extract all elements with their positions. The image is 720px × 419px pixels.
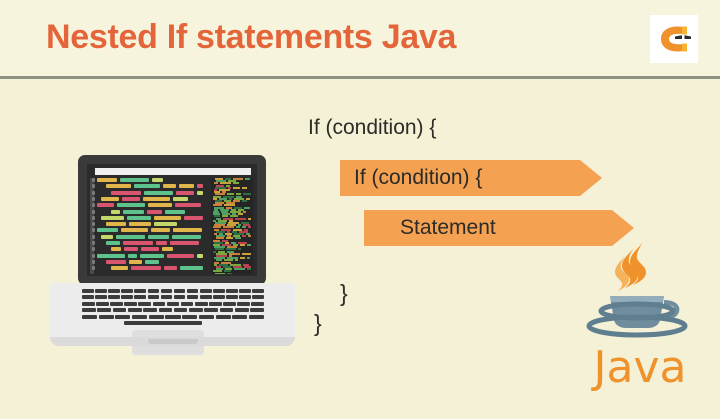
code-token — [145, 260, 159, 264]
code-gutter-tick — [92, 235, 95, 239]
keyboard-key — [82, 302, 95, 306]
code-token — [101, 197, 119, 201]
laptop-keyboard — [82, 289, 264, 325]
code-token — [176, 191, 194, 195]
keyboard-spacebar — [124, 321, 202, 325]
code-token — [173, 228, 202, 232]
keyboard-key — [204, 308, 218, 312]
keyboard-key — [134, 295, 146, 299]
keyboard-key — [143, 308, 157, 312]
code-token — [156, 241, 167, 245]
keyboard-key — [134, 289, 146, 293]
code-token — [116, 235, 145, 239]
keyboard-key — [226, 295, 238, 299]
code-token — [134, 184, 160, 188]
keyboard-key — [128, 308, 142, 312]
laptop-base — [50, 283, 295, 345]
code-token — [172, 235, 201, 239]
code-token — [123, 210, 144, 214]
keyboard-key — [174, 308, 188, 312]
laptop-front-notch — [148, 339, 198, 344]
minimap-token — [243, 193, 251, 195]
code-token — [97, 254, 125, 258]
code-gutter-tick — [92, 228, 95, 232]
minimap-token — [235, 218, 246, 220]
keyboard-key — [220, 308, 234, 312]
minimap-token — [238, 248, 241, 250]
code-token — [144, 191, 173, 195]
editor-tab-bar — [95, 168, 251, 175]
keyboard-key — [82, 289, 94, 293]
code-token — [101, 235, 113, 239]
code-token — [101, 216, 124, 220]
code-line-outer-brace: } — [314, 310, 322, 337]
code-token — [148, 203, 172, 207]
code-token — [173, 197, 188, 201]
minimap-token — [242, 253, 251, 255]
code-token — [163, 184, 176, 188]
keyboard-key — [250, 308, 264, 312]
code-gutter-tick — [92, 178, 95, 182]
minimap-token — [248, 226, 251, 228]
code-token — [127, 216, 151, 220]
keyboard-key — [138, 302, 151, 306]
minimap-token — [242, 235, 246, 237]
keyboard-key — [161, 289, 173, 293]
code-token — [179, 184, 194, 188]
code-token — [97, 178, 117, 182]
keyboard-key — [226, 289, 238, 293]
keyboard-key — [165, 315, 180, 319]
keyboard-key — [181, 302, 194, 306]
poster-canvas: Nested If statements Java — [0, 0, 720, 419]
minimap-token — [242, 200, 247, 202]
editor-code-area — [97, 178, 205, 274]
code-token — [122, 197, 140, 201]
keyboard-key — [239, 295, 251, 299]
code-gutter-tick — [92, 241, 95, 245]
keyboard-key — [174, 289, 186, 293]
keyboard-key — [209, 302, 222, 306]
arrow-inner-if: If (condition) { — [340, 160, 635, 196]
code-token — [124, 247, 138, 251]
keyboard-key — [189, 308, 203, 312]
code-gutter-tick — [92, 203, 95, 207]
keyboard-key — [82, 308, 96, 312]
code-gutter-tick — [92, 184, 95, 188]
code-token — [151, 228, 170, 232]
laptop-illustration — [50, 155, 295, 360]
minimap-token — [235, 259, 238, 261]
code-token — [197, 191, 203, 195]
laptop-screen — [87, 164, 257, 276]
editor-minimap — [211, 178, 253, 274]
keyboard-key — [187, 289, 199, 293]
keyboard-key — [96, 302, 109, 306]
minimap-token — [247, 244, 251, 246]
code-token — [167, 254, 194, 258]
keyboard-key — [195, 302, 208, 306]
code-line-outer-if: If (condition) { — [308, 116, 436, 140]
keyboard-key — [108, 289, 120, 293]
code-token — [117, 203, 145, 207]
keyboard-key — [148, 295, 160, 299]
keyboard-key — [82, 295, 94, 299]
code-token — [111, 266, 128, 270]
code-gutter-tick — [92, 210, 95, 214]
keyboard-key — [148, 289, 160, 293]
code-line-inner-brace: } — [340, 280, 348, 307]
code-token — [140, 254, 164, 258]
keyboard-key — [235, 308, 249, 312]
code-token — [154, 222, 177, 226]
minimap-token — [234, 268, 245, 270]
code-token — [131, 266, 161, 270]
keyboard-key — [200, 289, 212, 293]
laptop-lid — [78, 155, 266, 285]
code-gutter-tick — [92, 216, 95, 220]
code-gutter-tick — [92, 266, 95, 270]
code-token — [154, 216, 181, 220]
keyboard-key — [182, 315, 197, 319]
keyboard-key — [249, 315, 264, 319]
page-title: Nested If statements Java — [46, 18, 456, 57]
code-token — [148, 235, 169, 239]
minimap-token — [227, 273, 232, 274]
minimap-token — [233, 187, 240, 189]
minimap-token — [235, 237, 241, 239]
keyboard-key — [252, 289, 264, 293]
code-token — [97, 203, 114, 207]
code-token — [197, 184, 203, 188]
code-token — [129, 222, 151, 226]
keyboard-key — [113, 308, 127, 312]
keyboard-key — [223, 302, 236, 306]
keyboard-key — [124, 302, 137, 306]
coding-ninjas-c-logo-icon[interactable] — [650, 15, 698, 63]
code-gutter-tick — [92, 260, 95, 264]
keyboard-key — [82, 315, 97, 319]
keyboard-key — [95, 289, 107, 293]
code-token — [111, 191, 141, 195]
code-token — [123, 241, 153, 245]
java-coffee-cup-icon — [580, 238, 700, 350]
keyboard-key — [213, 295, 225, 299]
code-token — [120, 178, 149, 182]
keyboard-key — [232, 315, 247, 319]
code-token — [152, 178, 163, 182]
c-ninja-svg — [650, 15, 698, 63]
keyboard-key — [200, 295, 212, 299]
arrow-head — [580, 160, 602, 196]
minimap-token — [243, 211, 246, 213]
code-token — [129, 260, 142, 264]
keyboard-key — [251, 302, 264, 306]
code-token — [128, 254, 137, 258]
minimap-token — [240, 257, 245, 259]
code-token — [147, 210, 162, 214]
keyboard-key — [132, 315, 147, 319]
code-token — [180, 266, 203, 270]
keyboard-key — [167, 302, 180, 306]
keyboard-key — [110, 302, 123, 306]
keyboard-key — [187, 295, 199, 299]
keyboard-key — [108, 295, 120, 299]
code-token — [184, 216, 203, 220]
keyboard-key — [239, 289, 251, 293]
code-token — [121, 228, 148, 232]
keyboard-key — [237, 302, 250, 306]
keyboard-key — [216, 315, 231, 319]
code-token — [106, 260, 126, 264]
header-bar: Nested If statements Java — [0, 0, 720, 78]
keyboard-key — [115, 315, 130, 319]
code-token — [106, 184, 131, 188]
keyboard-key — [97, 308, 111, 312]
keyboard-key — [161, 295, 173, 299]
code-token — [175, 203, 201, 207]
minimap-token — [247, 257, 250, 259]
arrow-label-inner-if: If (condition) { — [354, 160, 482, 196]
code-token — [106, 241, 120, 245]
keyboard-key — [99, 315, 114, 319]
minimap-token — [215, 273, 225, 274]
code-token — [197, 254, 203, 258]
code-token — [97, 228, 118, 232]
keyboard-key — [121, 295, 133, 299]
code-gutter-tick — [92, 191, 95, 195]
java-logo: Java — [580, 238, 700, 398]
code-token — [143, 197, 170, 201]
minimap-token — [240, 244, 245, 246]
minimap-token — [248, 235, 251, 237]
code-gutter-tick — [92, 247, 95, 251]
minimap-token — [248, 218, 251, 220]
code-token — [141, 247, 159, 251]
java-wordmark: Java — [580, 346, 700, 390]
code-token — [164, 266, 177, 270]
minimap-token — [244, 207, 250, 209]
keyboard-key — [153, 302, 166, 306]
code-token — [111, 247, 121, 251]
keyboard-key — [121, 289, 133, 293]
minimap-token — [233, 182, 239, 184]
keyboard-key — [213, 289, 225, 293]
code-token — [170, 241, 199, 245]
code-gutter-tick — [92, 222, 95, 226]
keyboard-key — [174, 295, 186, 299]
keyboard-key — [95, 295, 107, 299]
minimap-token — [242, 187, 247, 189]
code-gutter-tick — [92, 254, 95, 258]
header-divider — [0, 76, 720, 79]
code-token — [162, 247, 173, 251]
minimap-token — [238, 213, 243, 215]
keyboard-key — [159, 308, 173, 312]
keyboard-key — [252, 295, 264, 299]
minimap-token — [247, 268, 251, 270]
code-token — [165, 210, 185, 214]
code-token — [111, 210, 120, 214]
arrow-label-statement: Statement — [400, 210, 496, 246]
keyboard-key — [149, 315, 164, 319]
code-token — [106, 222, 126, 226]
code-gutter-tick — [92, 197, 95, 201]
keyboard-key — [199, 315, 214, 319]
minimap-token — [245, 178, 250, 180]
